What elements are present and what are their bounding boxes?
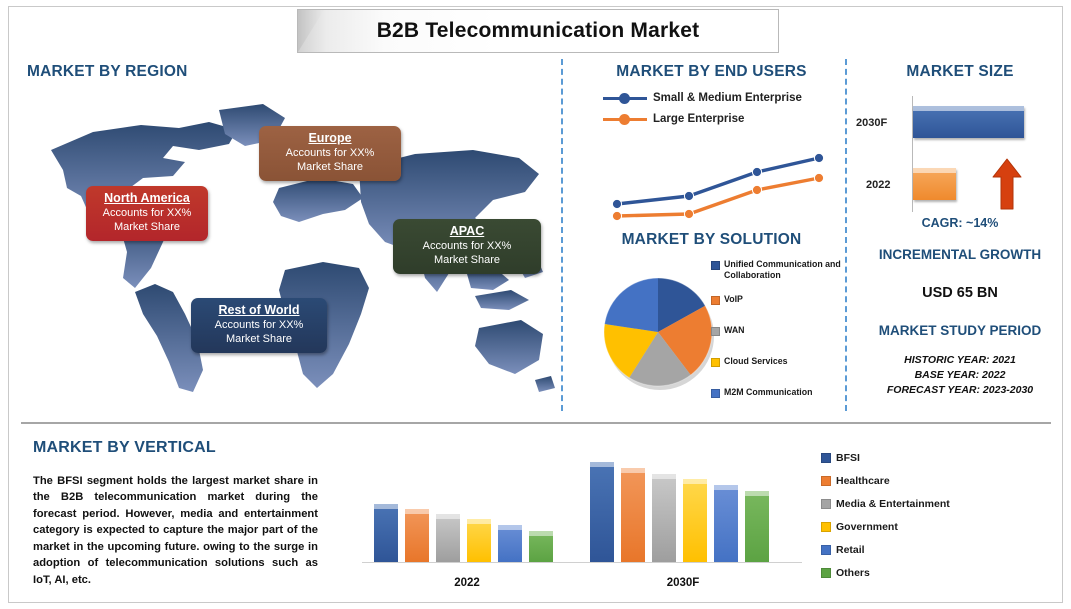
vertical-bar-chart: 2022 2030F [354,457,814,597]
end-users-line-chart: Small & Medium Enterprise Large Enterpri… [579,92,844,227]
bar-2022-bfsi [374,504,398,562]
legend-item-media-entertainment: Media & Entertainment [821,498,1001,510]
legend-label: WAN [724,325,745,336]
legend-item-wan: WAN [711,325,843,336]
legend-marker-line-icon [603,92,647,104]
callout-title: Europe [268,131,392,146]
bar-2022 [913,168,956,200]
legend-label: Healthcare [836,475,890,487]
callout-line-1: Accounts for XX% [200,319,318,332]
legend-label: Retail [836,544,865,556]
bar-2022-government [467,519,491,562]
incremental-growth-value: USD 65 BN [854,285,1066,301]
pie-slices [599,267,717,397]
legend-swatch-icon [821,453,831,463]
infographic-frame: B2B Telecommunication Market MARKET BY R… [8,6,1063,603]
legend-item-government: Government [821,521,1001,533]
legend-swatch-icon [821,499,831,509]
vertical-legend: BFSI Healthcare Media & Entertainment Go… [821,452,1001,590]
legend-label: BFSI [836,452,860,464]
callout-line-2: Market Share [95,221,199,234]
legend-swatch-icon [711,389,720,398]
callout-north-america: North America Accounts for XX% Market Sh… [86,186,208,241]
divider-vertical-right [845,59,847,411]
bar-2030f-healthcare [621,468,645,562]
callout-line-1: Accounts for XX% [95,207,199,220]
divider-horizontal [21,422,1051,424]
legend-item-healthcare: Healthcare [821,475,1001,487]
base-year: BASE YEAR: 2022 [854,368,1066,383]
legend-item-retail: Retail [821,544,1001,556]
legend-swatch-icon [821,476,831,486]
legend-swatch-icon [821,568,831,578]
callout-apac: APAC Accounts for XX% Market Share [393,219,541,274]
cagr-value: CAGR: ~14% [854,216,1066,230]
legend-label: Small & Medium Enterprise [653,92,802,104]
title-banner: B2B Telecommunication Market [297,9,779,53]
bar-2030f-retail [714,485,738,562]
bar-2022-healthcare [405,509,429,562]
legend-label: Media & Entertainment [836,498,950,510]
legend-label: Others [836,567,870,579]
market-study-period-heading: MARKET STUDY PERIOD [854,323,1066,338]
callout-title: APAC [402,224,532,239]
bar-2022-others [529,531,553,562]
incremental-growth-heading: INCREMENTAL GROWTH [854,247,1066,262]
callout-title: Rest of World [200,303,318,318]
legend-swatch-icon [821,545,831,555]
legend-swatch-icon [821,522,831,532]
callout-rest-of-world: Rest of World Accounts for XX% Market Sh… [191,298,327,353]
legend-item-large-enterprise: Large Enterprise [603,113,844,125]
section-title-market-size: MARKET SIZE [854,63,1066,81]
legend-swatch-icon [711,358,720,367]
legend-swatch-icon [711,327,720,336]
bar-2030f-bfsi [590,462,614,562]
growth-arrow-up-icon [992,158,1022,210]
legend-item-voip: VoIP [711,294,843,305]
legend-label: Unified Communication and Collaboration [724,259,843,281]
group-label-2030f: 2030F [590,577,776,589]
legend-swatch-icon [711,261,720,270]
legend-item-cloud-services: Cloud Services [711,356,843,367]
legend-label: Cloud Services [724,356,788,367]
bar-2030f-media [652,474,676,562]
legend-item-m2m: M2M Communication [711,387,843,398]
solution-pie-chart: Unified Communication and Collaboration … [579,229,844,411]
bar-2022-media [436,514,460,562]
market-size-bar-chart: 2030F 2022 CAGR: ~14% [854,92,1066,232]
legend-item-ucc: Unified Communication and Collaboration [711,259,843,281]
callout-europe: Europe Accounts for XX% Market Share [259,126,401,181]
pie-legend: Unified Communication and Collaboration … [711,259,843,398]
bar-label-2030f: 2030F [856,117,887,129]
legend-item-sme: Small & Medium Enterprise [603,92,844,104]
legend-label: Government [836,521,898,533]
legend-item-bfsi: BFSI [821,452,1001,464]
callout-line-2: Market Share [200,333,318,346]
section-title-end-users: MARKET BY END USERS [579,63,844,81]
vertical-description: The BFSI segment holds the largest marke… [33,473,318,588]
bar-label-2022: 2022 [866,179,890,191]
forecast-year: FORECAST YEAR: 2023-2030 [854,383,1066,398]
legend-label: VoIP [724,294,743,305]
callout-line-2: Market Share [268,161,392,174]
callout-line-1: Accounts for XX% [268,147,392,160]
bar-2030f-government [683,479,707,562]
bar-2030f-others [745,491,769,562]
callout-line-1: Accounts for XX% [402,240,532,253]
section-title-region: MARKET BY REGION [27,63,188,81]
bar-2030f [913,106,1024,138]
legend-label: Large Enterprise [653,113,744,125]
group-label-2022: 2022 [374,577,560,589]
line-series-plot [579,144,844,227]
page-title: B2B Telecommunication Market [377,19,700,43]
legend-item-others: Others [821,567,1001,579]
legend-marker-line-icon [603,113,647,125]
section-title-vertical: MARKET BY VERTICAL [33,439,216,457]
chart-baseline [362,562,802,563]
callout-title: North America [95,191,199,206]
historic-year: HISTORIC YEAR: 2021 [854,353,1066,368]
legend-label: M2M Communication [724,387,812,398]
bar-2022-retail [498,525,522,562]
legend-swatch-icon [711,296,720,305]
callout-line-2: Market Share [402,254,532,267]
